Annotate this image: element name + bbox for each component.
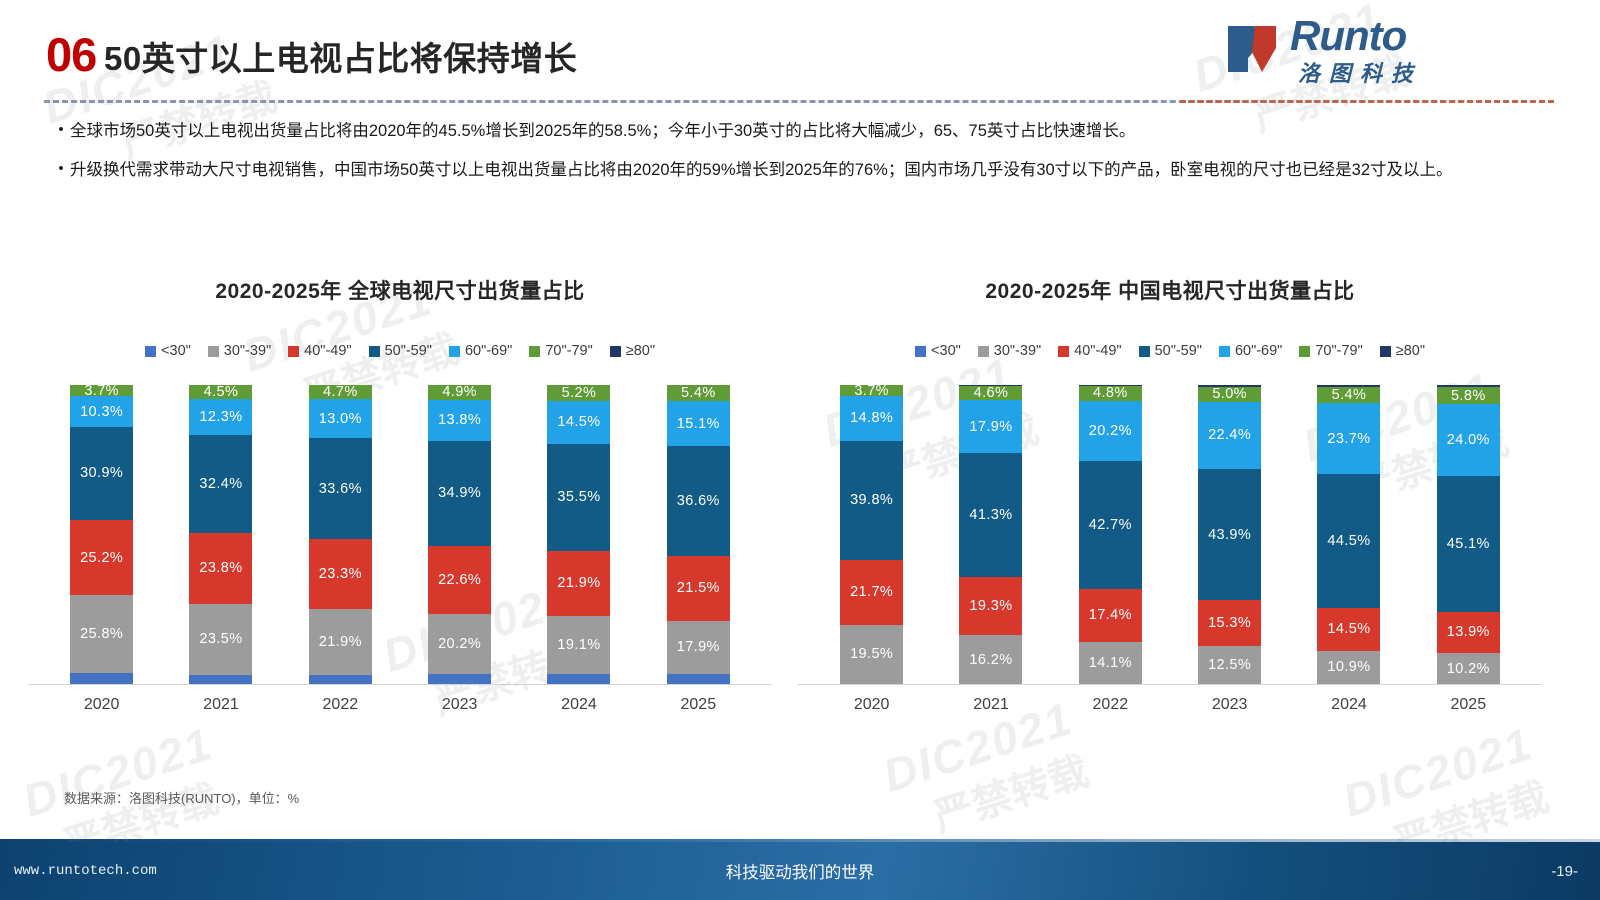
bar-segment[interactable]: 12.3% bbox=[189, 399, 252, 436]
bar-segment[interactable]: 4.5% bbox=[189, 385, 252, 399]
bar-segment[interactable]: 14.1% bbox=[1079, 642, 1142, 684]
legend-swatch-icon bbox=[915, 346, 926, 357]
x-axis-tick-label: 2021 bbox=[959, 696, 1022, 714]
x-axis-tick-label: 2023 bbox=[428, 696, 491, 714]
chart-legend: <30"30"-39"40"-49"50"-59"60"-69"70"-79"≥… bbox=[20, 343, 780, 359]
bar-segment[interactable]: 17.9% bbox=[959, 400, 1022, 454]
legend-swatch-icon bbox=[1219, 346, 1230, 357]
legend-label: <30" bbox=[161, 343, 191, 359]
page-title: 50英寸以上电视占比将保持增长 bbox=[104, 32, 577, 80]
slide-root: DIC2021严禁转载DIC2021严禁转载DIC2021严禁转载DIC2021… bbox=[0, 0, 1600, 900]
bar-column[interactable]: 4.7%13.0%33.6%23.3%21.9% bbox=[309, 385, 372, 685]
x-axis-tick-label: 2025 bbox=[667, 696, 730, 714]
bullet-marker: • bbox=[52, 116, 70, 147]
bar-segment[interactable]: 3.7% bbox=[70, 385, 133, 396]
bar-segment[interactable]: 41.3% bbox=[959, 453, 1022, 577]
legend-item[interactable]: 70"-79" bbox=[1299, 343, 1362, 359]
x-axis-tick-label: 2021 bbox=[189, 696, 252, 714]
bar-column[interactable]: 4.5%12.3%32.4%23.8%23.5% bbox=[189, 385, 252, 685]
bar-segment[interactable]: 43.9% bbox=[1198, 469, 1261, 601]
bar-segment[interactable]: 5.2% bbox=[547, 385, 610, 401]
legend-item[interactable]: 50"-59" bbox=[369, 343, 432, 359]
bar-segment[interactable]: 15.1% bbox=[667, 401, 730, 446]
bar-segment[interactable]: 32.4% bbox=[189, 435, 252, 532]
bar-segment[interactable]: 21.7% bbox=[840, 560, 903, 625]
legend-label: 50"-59" bbox=[1155, 343, 1202, 359]
bar-segment[interactable]: 4.7% bbox=[309, 385, 372, 399]
legend-item[interactable]: 30"-39" bbox=[978, 343, 1041, 359]
bar-segment[interactable]: 21.9% bbox=[547, 551, 610, 617]
bar-segment[interactable]: 24.0% bbox=[1437, 404, 1500, 476]
legend-label: 60"-69" bbox=[465, 343, 512, 359]
bar-segment[interactable]: 21.5% bbox=[667, 556, 730, 620]
legend-label: <30" bbox=[931, 343, 961, 359]
bar-segment[interactable]: 34.9% bbox=[428, 441, 491, 546]
bar-segment[interactable]: 17.9% bbox=[667, 621, 730, 675]
bar-column[interactable]: 4.8%20.2%42.7%17.4%14.1% bbox=[1079, 385, 1142, 685]
x-axis-tick-label: 2025 bbox=[1437, 696, 1500, 714]
bar-segment[interactable]: 15.3% bbox=[1198, 600, 1261, 646]
bar-segment[interactable]: 21.9% bbox=[309, 609, 372, 675]
bar-segment[interactable]: 10.2% bbox=[1437, 653, 1500, 684]
bar-group: 3.7%10.3%30.9%25.2%25.8%4.5%12.3%32.4%23… bbox=[42, 385, 758, 685]
bar-segment[interactable]: 14.5% bbox=[547, 401, 610, 445]
bullet-text: 全球市场50英寸以上电视出货量占比将由2020年的45.5%增长到2025年的5… bbox=[70, 116, 1552, 147]
bar-segment[interactable]: 20.2% bbox=[428, 614, 491, 675]
bar-segment[interactable]: 25.8% bbox=[70, 595, 133, 672]
chart-global: 2020-2025年 全球电视尺寸出货量占比 <30"30"-39"40"-49… bbox=[20, 275, 780, 775]
x-axis-labels: 202020212022202320242025 bbox=[20, 696, 780, 714]
bar-segment[interactable]: 12.5% bbox=[1198, 646, 1261, 684]
bar-segment[interactable]: 5.4% bbox=[1317, 387, 1380, 403]
plot-area: 3.7%10.3%30.9%25.2%25.8%4.5%12.3%32.4%23… bbox=[20, 385, 780, 685]
legend-swatch-icon bbox=[1380, 346, 1391, 357]
bar-segment[interactable]: 5.4% bbox=[667, 385, 730, 401]
bar-segment[interactable]: 14.5% bbox=[1317, 608, 1380, 652]
legend-item[interactable]: 70"-79" bbox=[529, 343, 592, 359]
x-axis-tick-label: 2022 bbox=[1079, 696, 1142, 714]
x-axis-labels: 202020212022202320242025 bbox=[790, 696, 1550, 714]
chart-title: 2020-2025年 中国电视尺寸出货量占比 bbox=[790, 275, 1550, 305]
bar-segment[interactable]: 13.0% bbox=[309, 399, 372, 438]
legend-item[interactable]: ≥80" bbox=[1380, 343, 1425, 359]
slide-header: 06 50英寸以上电视占比将保持增长 Runto 洛图科技 bbox=[0, 0, 1600, 100]
legend-swatch-icon bbox=[1139, 346, 1150, 357]
legend-item[interactable]: 50"-59" bbox=[1139, 343, 1202, 359]
bar-segment[interactable]: 17.4% bbox=[1079, 589, 1142, 641]
x-axis-tick-label: 2020 bbox=[840, 696, 903, 714]
bar-group: 3.7%14.8%39.8%21.7%19.5%4.6%17.9%41.3%19… bbox=[812, 385, 1528, 685]
x-axis-line bbox=[28, 684, 772, 685]
bar-column[interactable]: 4.6%17.9%41.3%19.3%16.2% bbox=[959, 385, 1022, 685]
bar-column[interactable]: 5.2%14.5%35.5%21.9%19.1% bbox=[547, 385, 610, 685]
legend-item[interactable]: ≥80" bbox=[610, 343, 655, 359]
legend-label: 50"-59" bbox=[385, 343, 432, 359]
bar-segment[interactable]: 45.1% bbox=[1437, 476, 1500, 611]
legend-label: 40"-49" bbox=[304, 343, 351, 359]
bullet-item: •升级换代需求带动大尺寸电视销售，中国市场50英寸以上电视出货量占比将由2020… bbox=[52, 155, 1552, 186]
legend-swatch-icon bbox=[1058, 346, 1069, 357]
bar-segment[interactable]: 20.2% bbox=[1079, 401, 1142, 462]
legend-label: ≥80" bbox=[626, 343, 655, 359]
legend-item[interactable]: <30" bbox=[145, 343, 191, 359]
bar-segment[interactable]: 13.9% bbox=[1437, 612, 1500, 654]
bar-segment[interactable]: 13.8% bbox=[428, 400, 491, 441]
legend-swatch-icon bbox=[610, 346, 621, 357]
x-axis-tick-label: 2022 bbox=[309, 696, 372, 714]
slide-footer: www.runtotech.com 科技驱动我们的世界 -19- bbox=[0, 842, 1600, 900]
legend-swatch-icon bbox=[208, 346, 219, 357]
legend-label: 30"-39" bbox=[994, 343, 1041, 359]
bar-segment[interactable]: 23.3% bbox=[309, 539, 372, 609]
footer-url[interactable]: www.runtotech.com bbox=[14, 863, 157, 879]
bar-segment[interactable]: 22.4% bbox=[1198, 402, 1261, 469]
bar-segment[interactable]: 5.8% bbox=[1437, 387, 1500, 404]
runto-logo-text: Runto bbox=[1290, 12, 1406, 60]
bar-segment[interactable]: 35.5% bbox=[547, 444, 610, 551]
bar-segment[interactable]: 4.6% bbox=[959, 386, 1022, 400]
legend-swatch-icon bbox=[449, 346, 460, 357]
bar-column[interactable]: 5.4%23.7%44.5%14.5%10.9% bbox=[1317, 385, 1380, 685]
bullet-list: •全球市场50英寸以上电视出货量占比将由2020年的45.5%增长到2025年的… bbox=[52, 116, 1552, 195]
bar-segment[interactable]: 5.0% bbox=[1198, 387, 1261, 402]
legend-item[interactable]: 60"-69" bbox=[1219, 343, 1282, 359]
legend-item[interactable]: 60"-69" bbox=[449, 343, 512, 359]
bar-segment[interactable]: 19.5% bbox=[840, 625, 903, 684]
legend-label: 70"-79" bbox=[545, 343, 592, 359]
legend-label: ≥80" bbox=[1396, 343, 1425, 359]
bar-segment[interactable]: 44.5% bbox=[1317, 474, 1380, 608]
x-axis-line bbox=[798, 684, 1542, 685]
bar-segment[interactable]: 33.6% bbox=[309, 438, 372, 539]
chart-title: 2020-2025年 全球电视尺寸出货量占比 bbox=[20, 275, 780, 305]
bar-segment[interactable]: 4.8% bbox=[1079, 386, 1142, 400]
source-note: 数据来源：洛图科技(RUNTO)，单位：% bbox=[64, 788, 299, 807]
x-axis-tick-label: 2020 bbox=[70, 696, 133, 714]
x-axis-tick-label: 2024 bbox=[1317, 696, 1380, 714]
bar-column[interactable]: 3.7%14.8%39.8%21.7%19.5% bbox=[840, 385, 903, 685]
runto-logo: Runto 洛图科技 bbox=[1222, 16, 1522, 86]
chart-legend: <30"30"-39"40"-49"50"-59"60"-69"70"-79"≥… bbox=[790, 343, 1550, 359]
runto-logo-mark-icon bbox=[1222, 18, 1284, 80]
bar-segment[interactable]: 4.9% bbox=[428, 385, 491, 400]
bullet-marker: • bbox=[52, 155, 70, 186]
legend-swatch-icon bbox=[288, 346, 299, 357]
bar-segment[interactable]: 36.6% bbox=[667, 446, 730, 556]
header-divider-accent bbox=[1180, 100, 1554, 103]
legend-item[interactable]: 40"-49" bbox=[1058, 343, 1121, 359]
legend-swatch-icon bbox=[1299, 346, 1310, 357]
legend-swatch-icon bbox=[145, 346, 156, 357]
legend-item[interactable]: 40"-49" bbox=[288, 343, 351, 359]
chart-china: 2020-2025年 中国电视尺寸出货量占比 <30"30"-39"40"-49… bbox=[790, 275, 1550, 775]
bullet-text: 升级换代需求带动大尺寸电视销售，中国市场50英寸以上电视出货量占比将由2020年… bbox=[70, 155, 1552, 186]
legend-item[interactable]: 30"-39" bbox=[208, 343, 271, 359]
plot-area: 3.7%14.8%39.8%21.7%19.5%4.6%17.9%41.3%19… bbox=[790, 385, 1550, 685]
bar-segment[interactable]: 30.9% bbox=[70, 427, 133, 520]
runto-logo-cn: 洛图科技 bbox=[1298, 56, 1422, 88]
bar-segment[interactable]: 23.5% bbox=[189, 604, 252, 675]
section-number: 06 bbox=[46, 27, 96, 82]
bar-column[interactable]: 5.4%15.1%36.6%21.5%17.9% bbox=[667, 385, 730, 685]
legend-label: 40"-49" bbox=[1074, 343, 1121, 359]
bar-column[interactable]: 3.7%10.3%30.9%25.2%25.8% bbox=[70, 385, 133, 685]
legend-label: 70"-79" bbox=[1315, 343, 1362, 359]
legend-swatch-icon bbox=[978, 346, 989, 357]
bar-segment[interactable]: 19.3% bbox=[959, 577, 1022, 635]
bar-segment[interactable]: 3.7% bbox=[840, 385, 903, 396]
legend-item[interactable]: <30" bbox=[915, 343, 961, 359]
x-axis-tick-label: 2023 bbox=[1198, 696, 1261, 714]
legend-label: 30"-39" bbox=[224, 343, 271, 359]
bar-segment[interactable]: 23.8% bbox=[189, 533, 252, 604]
bar-segment[interactable]: 10.3% bbox=[70, 396, 133, 427]
bar-segment[interactable]: 23.7% bbox=[1317, 403, 1380, 474]
bar-segment[interactable]: 16.2% bbox=[959, 635, 1022, 684]
bar-segment[interactable]: 19.1% bbox=[547, 616, 610, 673]
page-number: -19- bbox=[1551, 863, 1578, 880]
bar-segment[interactable]: 42.7% bbox=[1079, 461, 1142, 589]
legend-swatch-icon bbox=[369, 346, 380, 357]
bar-column[interactable]: 4.9%13.8%34.9%22.6%20.2% bbox=[428, 385, 491, 685]
bar-column[interactable]: 5.8%24.0%45.1%13.9%10.2% bbox=[1437, 385, 1500, 685]
legend-label: 60"-69" bbox=[1235, 343, 1282, 359]
bullet-item: •全球市场50英寸以上电视出货量占比将由2020年的45.5%增长到2025年的… bbox=[52, 116, 1552, 147]
bar-segment[interactable]: 14.8% bbox=[840, 396, 903, 440]
footer-slogan: 科技驱动我们的世界 bbox=[0, 859, 1600, 883]
bar-column[interactable]: 5.0%22.4%43.9%15.3%12.5% bbox=[1198, 385, 1261, 685]
bar-segment[interactable]: 39.8% bbox=[840, 441, 903, 560]
bar-segment[interactable]: 25.2% bbox=[70, 520, 133, 596]
x-axis-tick-label: 2024 bbox=[547, 696, 610, 714]
legend-swatch-icon bbox=[529, 346, 540, 357]
bar-segment[interactable]: 10.9% bbox=[1317, 651, 1380, 684]
bar-segment[interactable]: 22.6% bbox=[428, 546, 491, 614]
